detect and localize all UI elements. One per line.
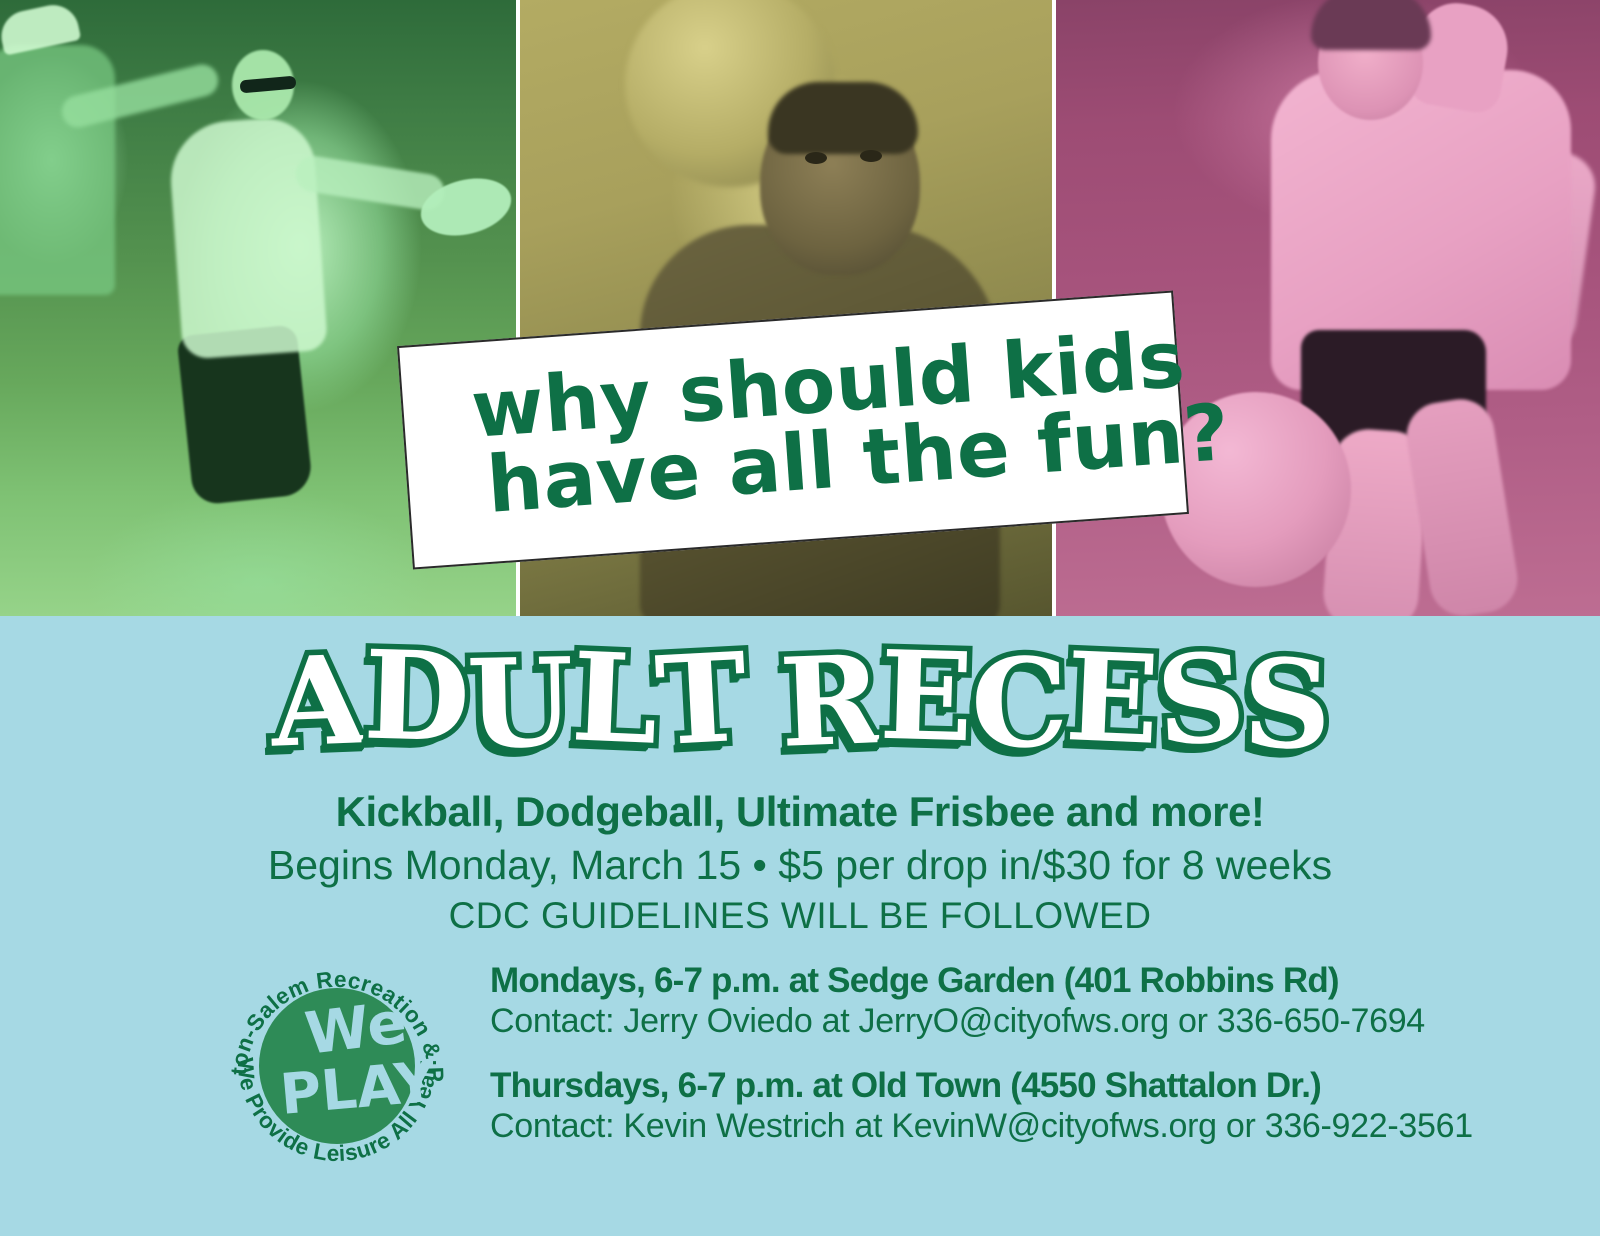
cdc-guidelines-line: CDC GUIDELINES WILL BE FOLLOWED: [0, 895, 1600, 937]
title-letter: E: [878, 634, 972, 758]
title-letter: U: [466, 641, 573, 765]
title-letter: S: [1154, 636, 1246, 762]
adult-recess-flyer: why should kids have all the fun? ADULT …: [0, 0, 1600, 1236]
title-letter: L: [569, 635, 658, 760]
player-torso: [167, 115, 328, 360]
session-title: Mondays, 6-7 p.m. at Sedge Garden (401 R…: [490, 960, 1540, 1001]
defender-figure: [0, 45, 115, 295]
title-letter: T: [652, 636, 747, 762]
activities-line: Kickball, Dodgeball, Ultimate Frisbee an…: [0, 788, 1600, 836]
dodgeball-player-left-eye: [805, 152, 827, 164]
sessions-list: Mondays, 6-7 p.m. at Sedge Garden (401 R…: [490, 960, 1540, 1170]
kickball-player-hair: [1311, 0, 1431, 50]
session-thursday: Thursdays, 6-7 p.m. at Old Town (4550 Sh…: [490, 1065, 1540, 1148]
title-letter: E: [1063, 635, 1159, 761]
title-letter: D: [362, 634, 469, 759]
page-title: ADULT RECESS: [0, 638, 1600, 768]
title-letter: R: [778, 638, 882, 764]
title-letter-space: [744, 638, 780, 760]
title-letter: S: [1242, 642, 1330, 765]
we-play-logo: Winston-Salem Recreation & Parks We Prov…: [222, 950, 452, 1180]
schedule-price-line: Begins Monday, March 15 • $5 per drop in…: [0, 842, 1600, 889]
title-letters: ADULT RECESS: [271, 638, 1329, 760]
session-contact: Contact: Jerry Oviedo at JerryO@cityofws…: [490, 1001, 1540, 1042]
session-title: Thursdays, 6-7 p.m. at Old Town (4550 Sh…: [490, 1065, 1540, 1106]
dodgeball-player-right-eye: [860, 150, 882, 162]
svg-text:PLAY: PLAY: [278, 1050, 440, 1128]
title-letter: C: [970, 641, 1067, 765]
session-monday: Mondays, 6-7 p.m. at Sedge Garden (401 R…: [490, 960, 1540, 1043]
content-band: ADULT RECESS Kickball, Dodgeball, Ultima…: [0, 620, 1600, 1236]
dodgeball-player-hair: [768, 82, 918, 154]
title-letter: A: [269, 638, 366, 763]
session-contact: Contact: Kevin Westrich at KevinW@cityof…: [490, 1106, 1540, 1147]
